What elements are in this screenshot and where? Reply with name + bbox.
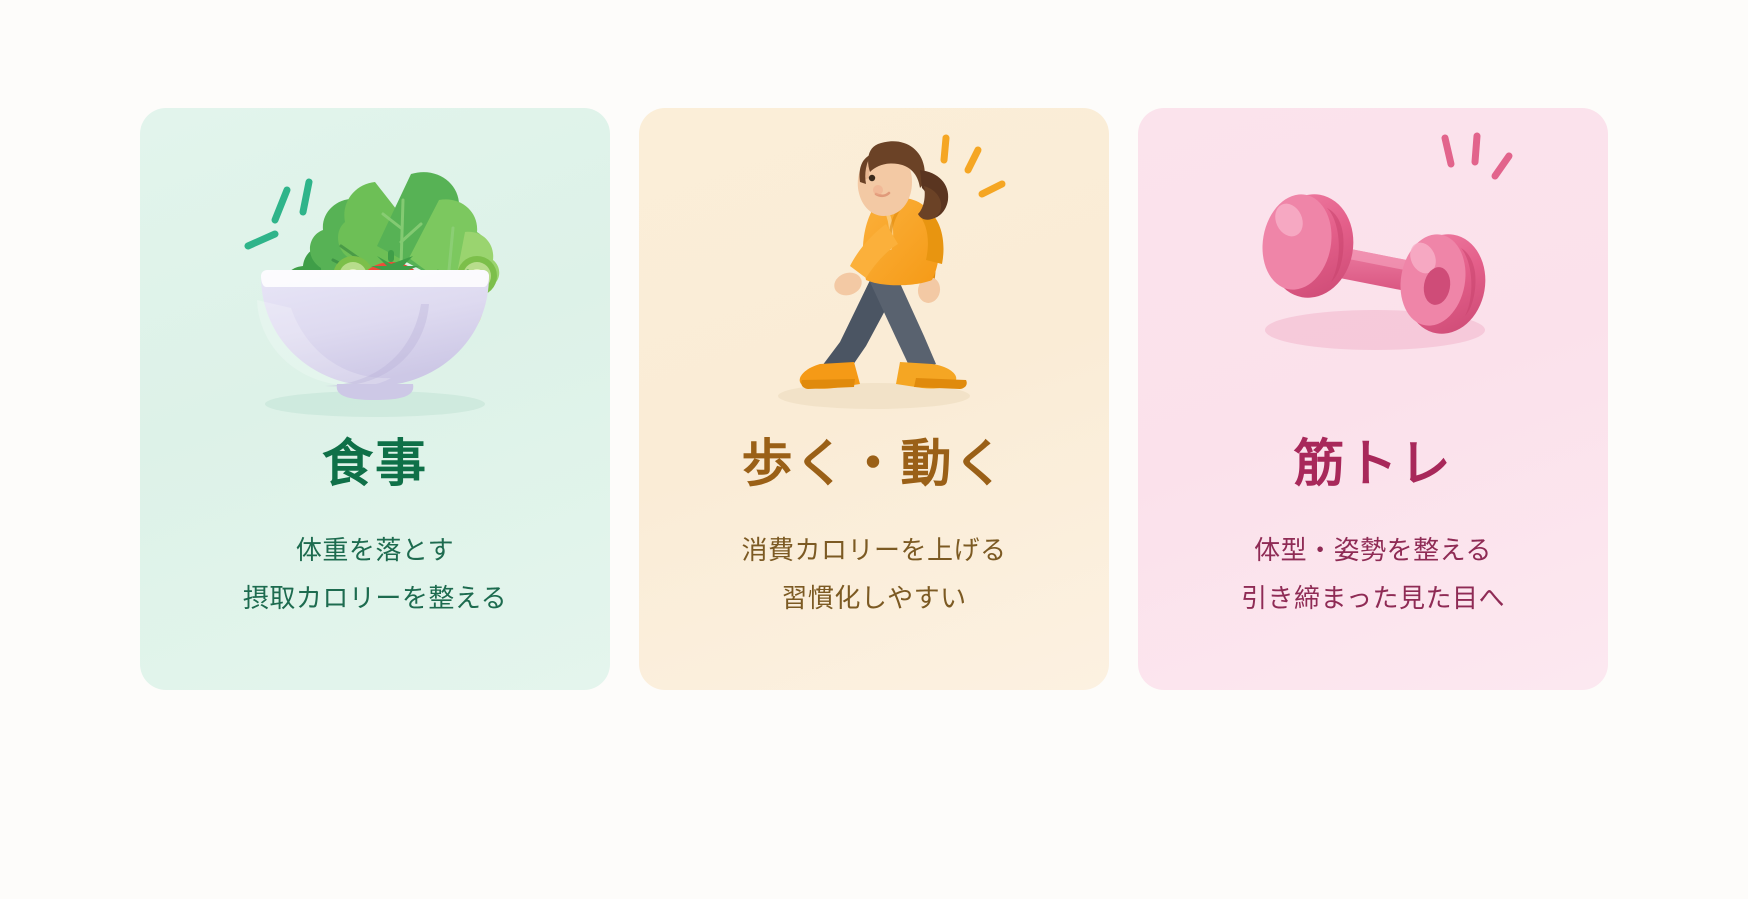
dumbbell-plate-left [1255,187,1361,304]
card-desc-line: 体重を落とす [243,526,507,574]
card-meal[interactable]: 食事 体重を落とす 摂取カロリーを整える [140,108,610,690]
card-description: 消費カロリーを上げる 習慣化しやすい [741,526,1006,622]
bowl [257,270,489,400]
card-desc-line: 摂取カロリーを整える [243,574,507,622]
card-title: 食事 [322,438,428,489]
salad-bowl-illustration [140,108,610,438]
cards-row: 食事 体重を落とす 摂取カロリーを整える [0,0,1748,899]
card-desc-line: 引き締まった見た目へ [1241,574,1505,622]
card-strength[interactable]: 筋トレ 体型・姿勢を整える 引き締まった見た目へ [1138,108,1608,690]
card-description: 体重を落とす 摂取カロリーを整える [243,526,507,622]
card-description: 体型・姿勢を整える 引き締まった見た目へ [1241,526,1505,622]
dumbbell-illustration [1138,108,1608,438]
card-title: 筋トレ [1293,438,1452,489]
card-walk[interactable]: 歩く・動く 消費カロリーを上げる 習慣化しやすい [639,108,1109,690]
card-desc-line: 体型・姿勢を整える [1241,526,1505,574]
sparkle-lines [248,182,309,246]
card-title: 歩く・動く [741,438,1006,489]
card-desc-line: 習慣化しやすい [741,574,1006,622]
sparkle-lines [1445,136,1509,176]
eye [869,175,875,181]
motion-spark-lines [944,138,1002,194]
card-desc-line: 消費カロリーを上げる [741,526,1006,574]
walking-person-illustration [639,108,1109,438]
